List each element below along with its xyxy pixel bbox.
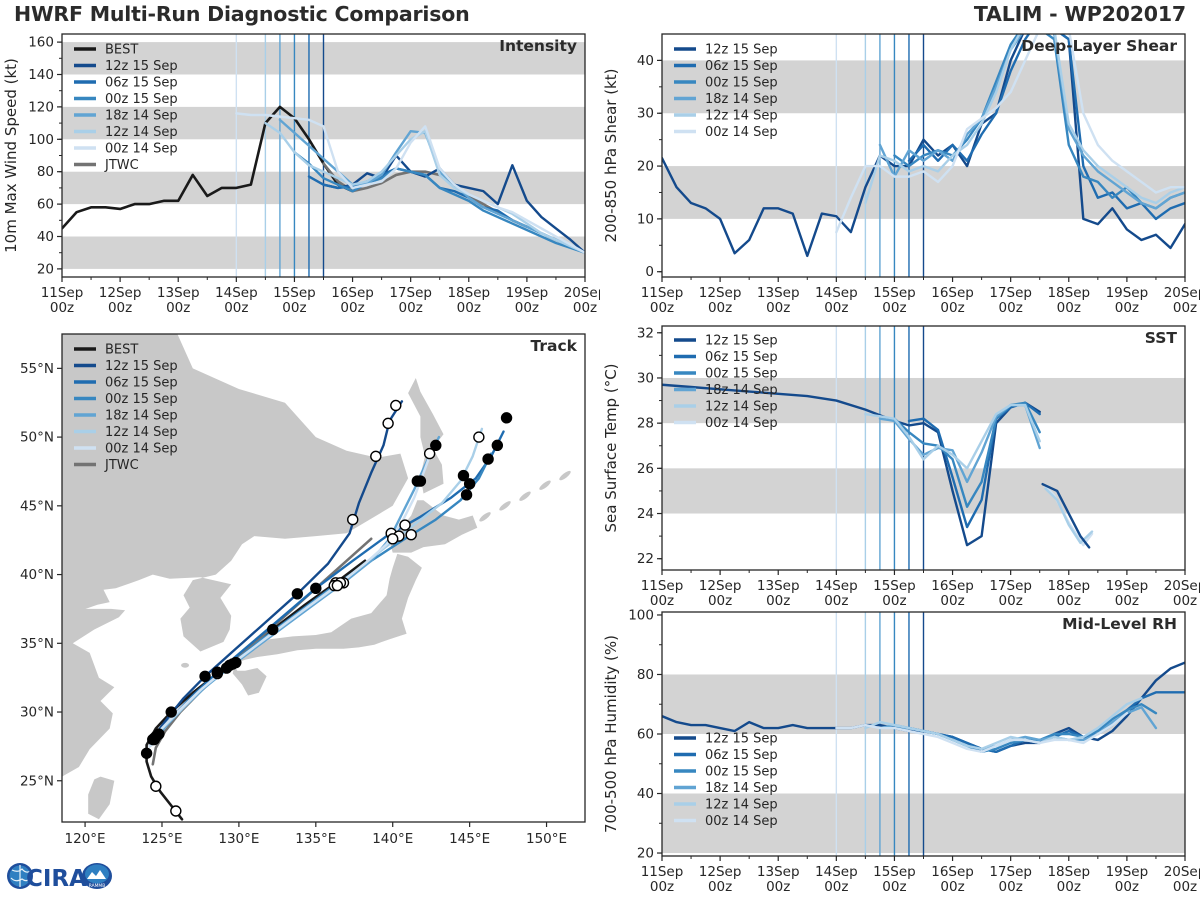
x-tick-label: 11Sep [641, 578, 684, 594]
track-marker-filled [292, 589, 302, 599]
x-tick-label: 20Sep [564, 285, 600, 301]
diagnostic-page: HWRF Multi-Run Diagnostic Comparison TAL… [0, 0, 1200, 900]
y-tick-label: 160 [28, 35, 54, 51]
x-tick-label: 12Sep [699, 864, 742, 880]
x-tick-label: 12Sep [699, 285, 742, 301]
y-tick-label: 40 [637, 786, 654, 802]
x-tick-label: 17Sep [989, 578, 1032, 594]
legend-label: 12z 14 Sep [705, 400, 778, 415]
y-tick-label: 20 [637, 159, 654, 175]
track-marker-filled [212, 667, 222, 677]
x-tick-label: 16Sep [931, 578, 974, 594]
legend-label: 18z 14 Sep [705, 92, 778, 107]
y-tick-label: 60 [637, 727, 654, 743]
legend-label: 00z 14 Sep [105, 142, 178, 157]
track-panel: 25°N30°N35°N40°N45°N50°N55°N120°E125°E13… [0, 322, 600, 867]
legend-label: 00z 15 Sep [705, 765, 778, 780]
legend-label: BEST [105, 43, 138, 58]
lat-tick-label: 50°N [20, 430, 54, 446]
panel-title: Mid-Level RH [1062, 615, 1177, 633]
legend-label: 12z 14 Sep [705, 109, 778, 124]
x-tick-label: 19Sep [1106, 578, 1149, 594]
legend-label: 00z 15 Sep [105, 92, 178, 107]
track-marker-filled [149, 735, 159, 745]
legend-label: 00z 15 Sep [105, 392, 178, 407]
x-tick-label: 20Sep [1164, 285, 1200, 301]
y-tick-label: 100 [628, 607, 654, 623]
y-tick-label: 20 [37, 261, 54, 277]
x-tick-label: 15Sep [873, 578, 916, 594]
legend-label: 06z 15 Sep [105, 376, 178, 391]
x-tick-sublabel: 00z [1173, 879, 1197, 895]
cira-wordmark: CIRA [26, 866, 87, 892]
legend-label: 06z 15 Sep [705, 59, 778, 74]
x-tick-label: 16Sep [331, 285, 374, 301]
legend-label: 06z 15 Sep [705, 350, 778, 365]
x-tick-label: 17Sep [989, 285, 1032, 301]
x-tick-label: 19Sep [1106, 864, 1149, 880]
legend-label: 12z 14 Sep [705, 798, 778, 813]
landmass [181, 663, 189, 668]
x-tick-label: 18Sep [1047, 864, 1090, 880]
x-tick-label: 11Sep [641, 864, 684, 880]
legend-label: 00z 15 Sep [705, 76, 778, 91]
lat-tick-label: 55°N [20, 361, 54, 377]
legend-label: 12z 15 Sep [105, 59, 178, 74]
track-marker-open [348, 515, 358, 525]
track-marker-filled [311, 583, 321, 593]
x-tick-label: 15Sep [273, 285, 316, 301]
svg-text:RAMMB: RAMMB [89, 883, 105, 889]
legend-label: 18z 14 Sep [705, 781, 778, 796]
panel-title: SST [1145, 329, 1178, 347]
legend-label: 00z 15 Sep [705, 367, 778, 382]
x-tick-label: 14Sep [815, 864, 858, 880]
track-marker-filled [200, 671, 210, 681]
track-marker-filled [142, 748, 152, 758]
x-tick-label: 16Sep [931, 285, 974, 301]
x-tick-label: 17Sep [989, 864, 1032, 880]
lon-tick-label: 145°E [449, 831, 490, 847]
y-tick-label: 80 [637, 667, 654, 683]
legend-label: 18z 14 Sep [705, 383, 778, 398]
y-tick-label: 30 [637, 106, 654, 122]
legend-label: 00z 14 Sep [705, 814, 778, 829]
track-marker-filled [415, 476, 425, 486]
x-tick-sublabel: 00z [50, 300, 74, 316]
x-tick-sublabel: 00z [1057, 879, 1081, 895]
x-tick-sublabel: 00z [882, 879, 906, 895]
x-tick-label: 14Sep [815, 578, 858, 594]
track-marker-open [151, 781, 161, 791]
y-tick-label: 10 [637, 211, 654, 227]
legend-label: 12z 15 Sep [105, 359, 178, 374]
legend-label: 06z 15 Sep [705, 748, 778, 763]
legend-label: 12z 14 Sep [105, 125, 178, 140]
x-tick-sublabel: 00z [766, 879, 790, 895]
y-axis-title: 700-500 hPa Humidity (%) [602, 635, 620, 833]
x-tick-label: 20Sep [1164, 578, 1200, 594]
x-tick-label: 15Sep [873, 285, 916, 301]
track-marker-open [391, 400, 401, 410]
x-tick-sublabel: 00z [708, 879, 732, 895]
y-tick-label: 80 [37, 164, 54, 180]
track-marker-filled [166, 707, 176, 717]
x-tick-label: 11Sep [641, 285, 684, 301]
x-tick-sublabel: 00z [166, 300, 190, 316]
y-tick-label: 30 [637, 370, 654, 386]
panel-title: Intensity [499, 37, 577, 55]
legend-label: 12z 15 Sep [705, 334, 778, 349]
track-marker-open [406, 530, 416, 540]
lon-tick-label: 125°E [141, 831, 182, 847]
lon-tick-label: 140°E [372, 831, 413, 847]
x-tick-sublabel: 00z [515, 300, 539, 316]
x-tick-label: 18Sep [1047, 285, 1090, 301]
y-tick-label: 60 [37, 197, 54, 213]
intensity-panel: 2040608010012014016011Sep00z12Sep00z13Se… [0, 22, 600, 322]
x-tick-label: 19Sep [506, 285, 549, 301]
lon-tick-label: 135°E [295, 831, 336, 847]
legend-label: 00z 14 Sep [705, 416, 778, 431]
x-tick-sublabel: 00z [650, 879, 674, 895]
x-tick-label: 11Sep [41, 285, 84, 301]
sst-panel: 22242628303211Sep00z12Sep00z13Sep00z14Se… [600, 312, 1200, 612]
track-marker-open [171, 806, 181, 816]
legend-label: 12z 15 Sep [705, 43, 778, 58]
y-tick-label: 32 [637, 325, 654, 341]
y-axis-title: 10m Max Wind Speed (kt) [2, 58, 20, 253]
lon-tick-label: 130°E [218, 831, 259, 847]
x-tick-label: 15Sep [873, 864, 916, 880]
y-tick-label: 0 [645, 264, 654, 280]
legend-label: 00z 14 Sep [705, 125, 778, 140]
track-marker-filled [483, 454, 493, 464]
lon-tick-label: 150°E [526, 831, 567, 847]
track-marker-filled [458, 471, 468, 481]
legend-label: 06z 15 Sep [105, 76, 178, 91]
lat-tick-label: 35°N [20, 636, 54, 652]
x-tick-sublabel: 00z [224, 300, 248, 316]
x-tick-sublabel: 00z [457, 300, 481, 316]
x-tick-sublabel: 00z [1115, 879, 1139, 895]
rammb-badge-icon: RAMMB [82, 863, 112, 889]
x-tick-sublabel: 00z [999, 879, 1023, 895]
x-tick-label: 17Sep [389, 285, 432, 301]
x-tick-label: 14Sep [215, 285, 258, 301]
x-tick-sublabel: 00z [108, 300, 132, 316]
x-tick-label: 14Sep [815, 285, 858, 301]
x-tick-label: 16Sep [931, 864, 974, 880]
track-marker-open [425, 449, 435, 459]
x-tick-label: 19Sep [1106, 285, 1149, 301]
track-marker-filled [492, 440, 502, 450]
lat-tick-label: 30°N [20, 705, 54, 721]
legend-label: 12z 15 Sep [705, 732, 778, 747]
x-tick-label: 12Sep [99, 285, 142, 301]
x-tick-sublabel: 00z [340, 300, 364, 316]
panel-title: Track [531, 337, 578, 355]
x-tick-label: 13Sep [757, 864, 800, 880]
legend-label: JTWC [104, 158, 139, 173]
x-tick-sublabel: 00z [940, 879, 964, 895]
legend-label: 12z 14 Sep [105, 425, 178, 440]
x-tick-sublabel: 00z [282, 300, 306, 316]
track-marker-open [332, 581, 342, 591]
y-tick-label: 40 [37, 229, 54, 245]
legend-label: 00z 14 Sep [105, 442, 178, 457]
y-tick-label: 28 [637, 416, 654, 432]
x-tick-label: 12Sep [699, 578, 742, 594]
x-tick-sublabel: 00z [399, 300, 423, 316]
x-tick-label: 13Sep [757, 578, 800, 594]
y-tick-label: 120 [28, 99, 54, 115]
legend-label: 18z 14 Sep [105, 409, 178, 424]
y-tick-label: 40 [637, 53, 654, 69]
y-tick-label: 140 [28, 67, 54, 83]
panel-title: Deep-Layer Shear [1021, 37, 1177, 55]
cira-logo: CIRA RAMMB [4, 850, 116, 898]
track-marker-filled [268, 625, 278, 635]
track-marker-filled [502, 413, 512, 423]
y-axis-title: 200-850 hPa Shear (kt) [602, 69, 620, 243]
lat-tick-label: 25°N [20, 773, 54, 789]
track-marker-filled [462, 490, 472, 500]
track-marker-open [400, 520, 410, 530]
lat-tick-label: 40°N [20, 567, 54, 583]
legend-label: BEST [105, 343, 138, 358]
legend-label: 18z 14 Sep [105, 109, 178, 124]
y-tick-label: 20 [637, 846, 654, 862]
y-tick-label: 24 [637, 506, 654, 522]
lon-tick-label: 120°E [65, 831, 106, 847]
legend-label: JTWC [104, 458, 139, 473]
x-tick-label: 13Sep [757, 285, 800, 301]
y-tick-label: 26 [637, 461, 654, 477]
lat-tick-label: 45°N [20, 498, 54, 514]
track-marker-open [388, 534, 398, 544]
track-marker-filled [225, 660, 235, 670]
track-marker-open [371, 451, 381, 461]
x-tick-label: 18Sep [447, 285, 490, 301]
rh-panel: 2040608010011Sep00z12Sep00z13Sep00z14Sep… [600, 598, 1200, 900]
y-axis-title: Sea Surface Temp (°C) [602, 363, 620, 532]
track-marker-open [474, 432, 484, 442]
x-tick-sublabel: 00z [824, 879, 848, 895]
x-tick-label: 20Sep [1164, 864, 1200, 880]
y-tick-label: 22 [637, 551, 654, 567]
y-tick-label: 100 [28, 132, 54, 148]
x-tick-label: 13Sep [157, 285, 200, 301]
shear-panel: 01020304011Sep00z12Sep00z13Sep00z14Sep00… [600, 22, 1200, 322]
x-tick-sublabel: 00z [573, 300, 597, 316]
track-marker-open [383, 418, 393, 428]
x-tick-label: 18Sep [1047, 578, 1090, 594]
